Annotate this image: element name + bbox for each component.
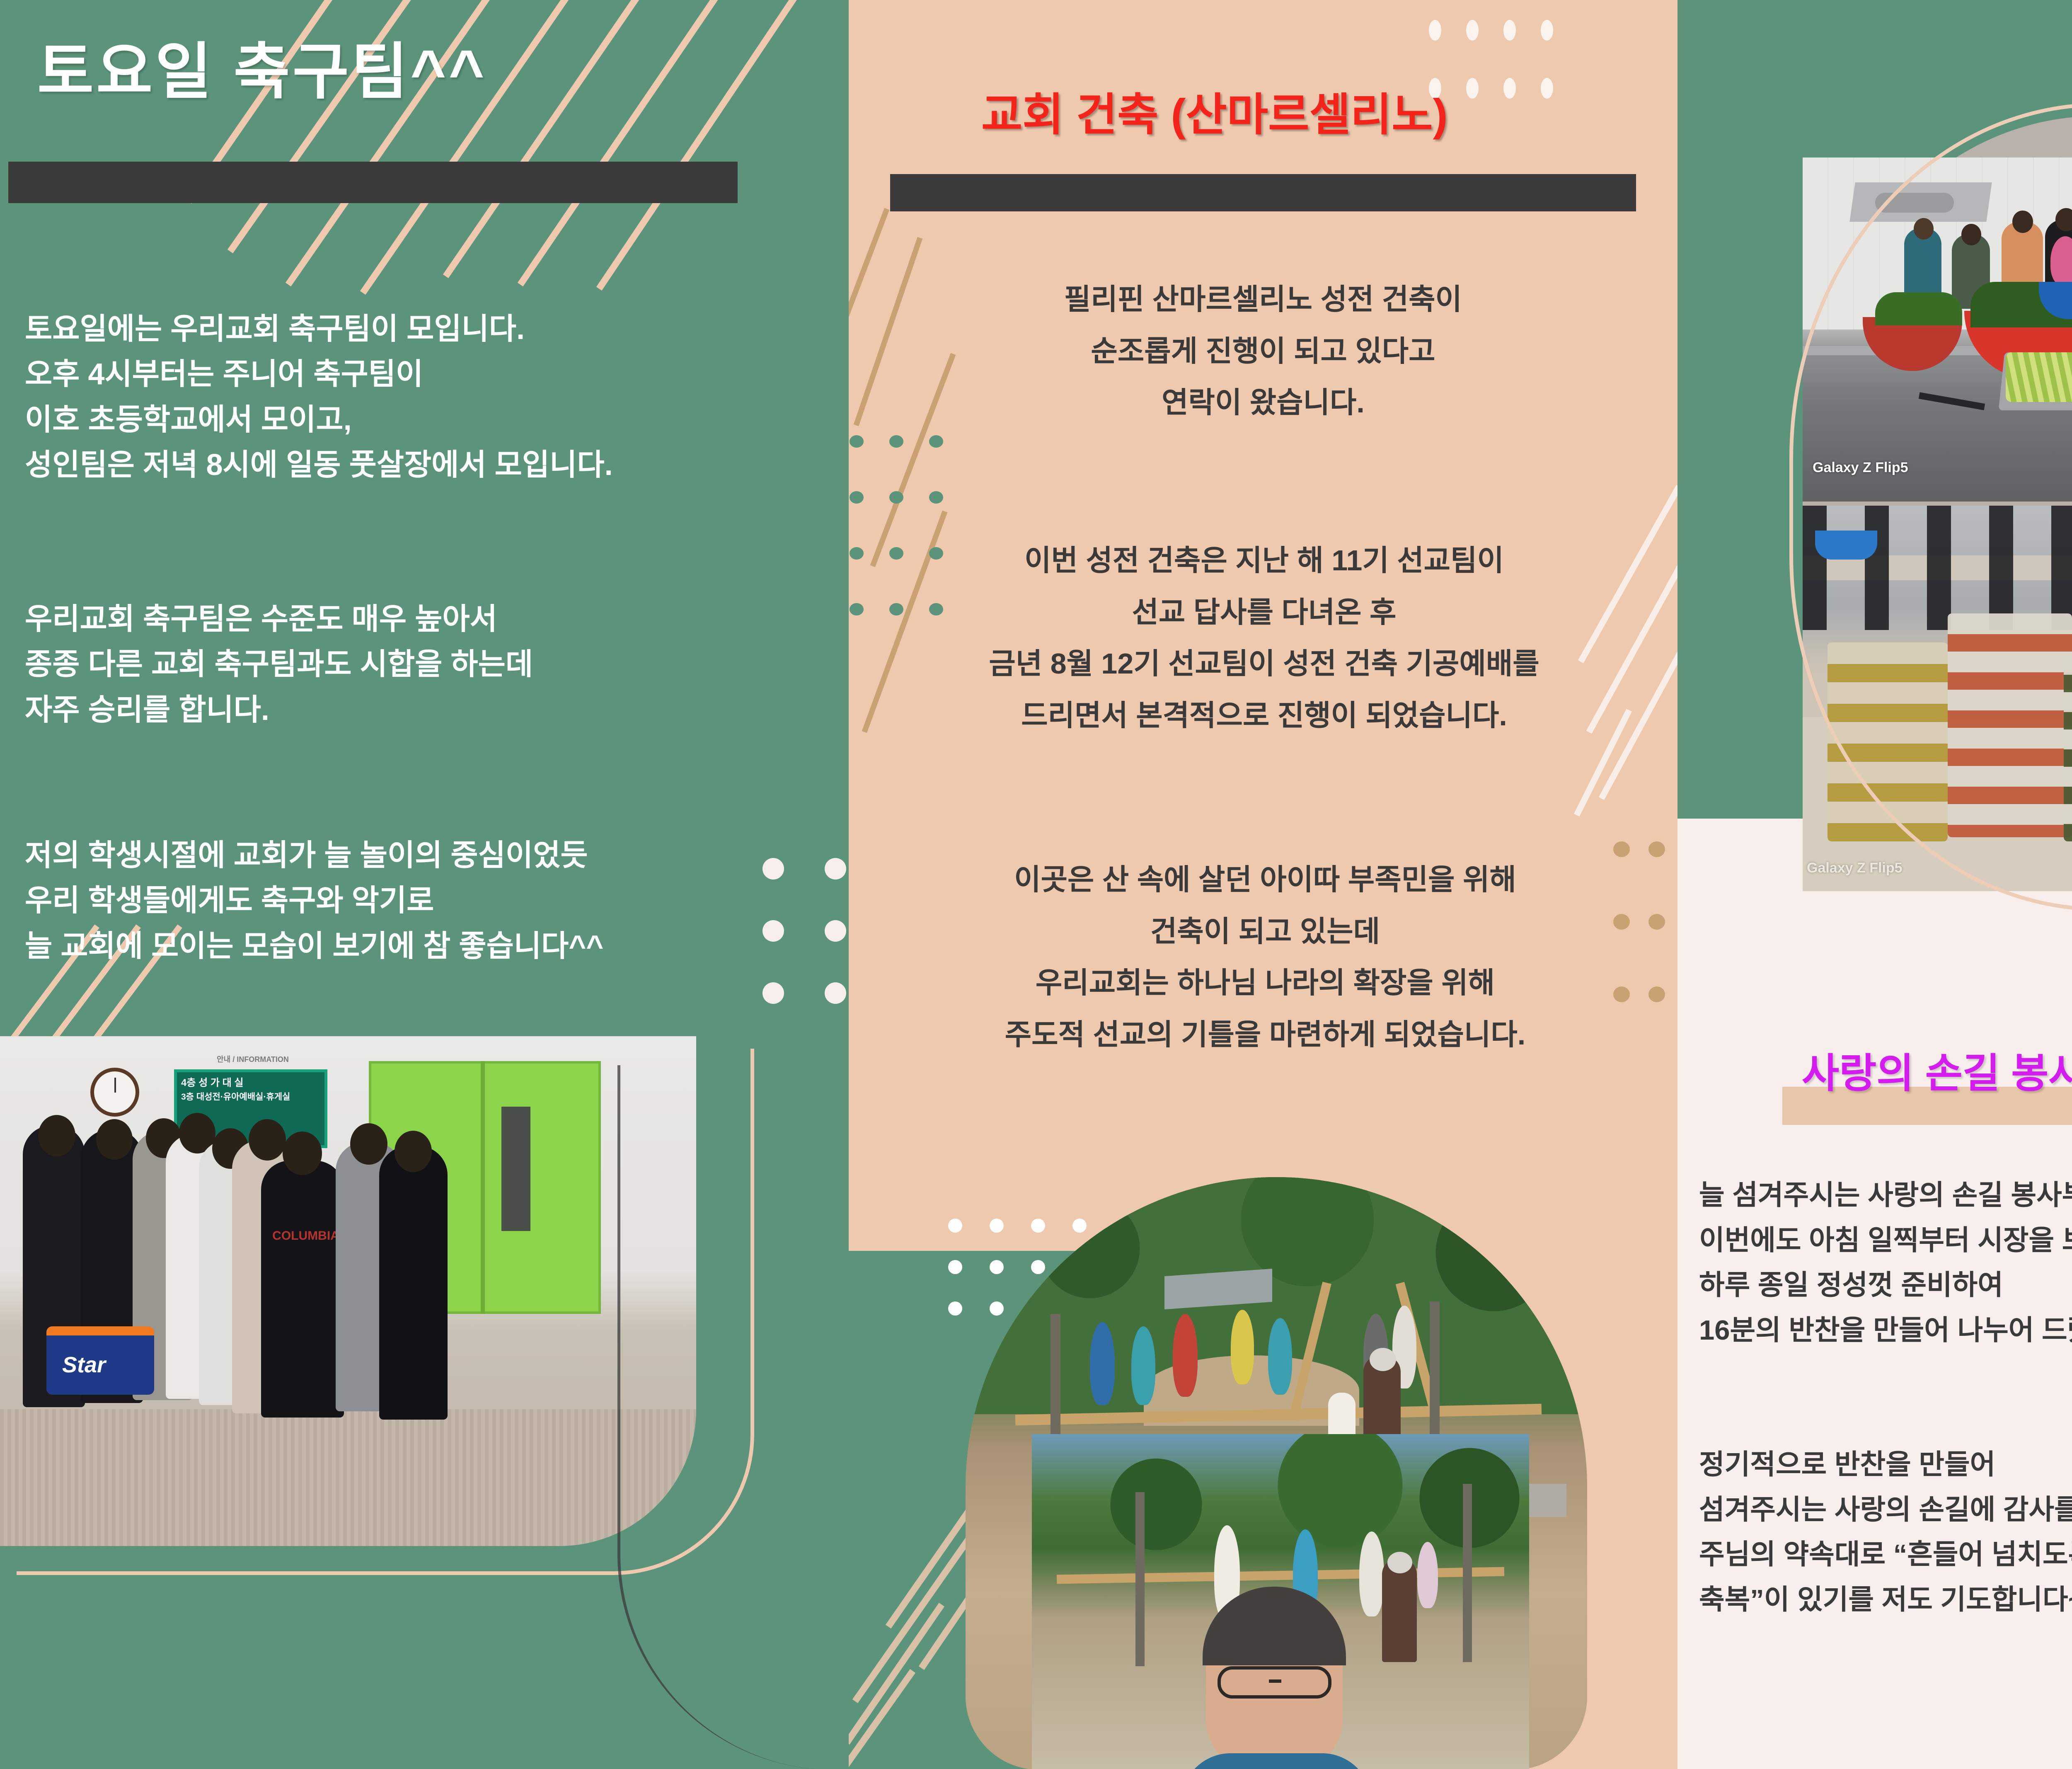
decorative-dot bbox=[948, 1219, 962, 1233]
photo-watermark: Galaxy Z Flip5 bbox=[1813, 460, 1908, 476]
person-head bbox=[38, 1115, 75, 1156]
left-paragraph-2: 우리교회 축구팀은 수준도 매우 높아서 종종 다른 교회 축구팀과도 시합을 … bbox=[25, 597, 829, 733]
person-head bbox=[249, 1119, 286, 1161]
worker-figure bbox=[1231, 1310, 1254, 1384]
sign-header-text: 안내 / INFORMATION bbox=[182, 1054, 323, 1064]
photo-scene: Galaxy Z Flip5 bbox=[1803, 158, 2072, 502]
container-stack-kimchi bbox=[1948, 613, 2072, 837]
decorative-dot bbox=[825, 982, 846, 1004]
door-window bbox=[501, 1107, 530, 1231]
left-column-title: 토요일 축구팀^^ bbox=[37, 22, 487, 111]
elder-figure bbox=[1382, 1558, 1417, 1662]
volunteer-head bbox=[1914, 218, 1934, 240]
rebar-column bbox=[1051, 1314, 1060, 1438]
person-figure bbox=[379, 1146, 448, 1420]
left-paragraph-3: 저의 학생시절에 교회가 늘 놀이의 중심이었듯 우리 학생들에게도 축구와 악… bbox=[25, 833, 849, 969]
shirt-logo-text: COLUMBIA bbox=[269, 1229, 343, 1243]
elder-hair bbox=[1370, 1348, 1396, 1371]
worker-figure bbox=[1359, 1532, 1384, 1616]
sign-line-3f: 3층 대성전·유아예배실·휴게실 bbox=[181, 1090, 320, 1104]
decorative-dot bbox=[929, 435, 943, 448]
right-paragraph-2: 정기적으로 반찬을 만들어 섬겨주시는 사랑의 손길에 감사를 드리며 주님의 … bbox=[1699, 1442, 2072, 1622]
person-head bbox=[283, 1132, 322, 1175]
photo-soccer-team: 4층 성 가 대 실 3층 대성전·유아예배실·휴게실 안내 / INFORMA… bbox=[0, 1036, 696, 1546]
decorative-dot bbox=[889, 435, 903, 448]
decorative-dot bbox=[850, 435, 864, 448]
decorative-dot bbox=[1429, 20, 1441, 41]
middle-title-underline-bar bbox=[890, 174, 1636, 211]
middle-column-title: 교회 건축 (산마르셀리노) bbox=[981, 79, 1448, 143]
right-column-title: 사랑의 손길 봉사부~ bbox=[1802, 1040, 2072, 1099]
person-head bbox=[350, 1123, 387, 1165]
photo-construction-selfie bbox=[1032, 1434, 1529, 1769]
rebar-column bbox=[1135, 1492, 1145, 1666]
sign-line-4f: 4층 성 가 대 실 bbox=[181, 1076, 320, 1090]
decorative-dot bbox=[1503, 20, 1516, 41]
newsletter-poster: 토요일 축구팀^^ 토요일에는 우리교회 축구팀이 모입니다. 오후 4시부터는… bbox=[0, 0, 2072, 1769]
decorative-dot bbox=[1466, 78, 1479, 99]
container-stack-yellow bbox=[1828, 642, 1948, 841]
blue-basket bbox=[1815, 531, 1877, 560]
bag-brand-text: Star bbox=[62, 1352, 145, 1378]
decorative-dot bbox=[762, 982, 784, 1004]
rebar-column bbox=[1430, 1301, 1440, 1438]
volunteer-head bbox=[2012, 211, 2033, 233]
photo-side-dish-containers: Galaxy Z Flip5 bbox=[1803, 506, 2072, 891]
photo-scene: 4층 성 가 대 실 3층 대성전·유아예배실·휴게실 안내 / INFORMA… bbox=[0, 1036, 696, 1546]
middle-paragraph-1: 필리핀 산마르셀리노 성전 건축이 순조롭게 진행이 되고 있다고 연락이 왔습… bbox=[874, 274, 1653, 429]
elder-hair bbox=[1387, 1552, 1412, 1573]
decorative-dot bbox=[850, 491, 864, 504]
duct-pipe bbox=[1875, 193, 1954, 213]
child-figure bbox=[1417, 1542, 1438, 1608]
decorative-dot bbox=[929, 491, 943, 504]
floor-shape bbox=[0, 1409, 696, 1546]
photo-scene bbox=[1032, 1434, 1529, 1769]
left-paragraph-1: 토요일에는 우리교회 축구팀이 모입니다. 오후 4시부터는 주니어 축구팀이 … bbox=[25, 307, 829, 488]
dot-grid-middle-top bbox=[1429, 20, 1578, 136]
photo-scene: Galaxy Z Flip5 bbox=[1803, 506, 2072, 891]
decorative-dot bbox=[889, 491, 903, 504]
left-title-underline-bar bbox=[8, 162, 738, 203]
middle-paragraph-2: 이번 성전 건축은 지난 해 11기 선교팀이 선교 답사를 다녀온 후 금년 … bbox=[861, 535, 1667, 741]
door-divider bbox=[481, 1061, 485, 1314]
person-head bbox=[395, 1131, 432, 1172]
decorative-dot bbox=[1503, 78, 1516, 99]
worker-figure bbox=[1173, 1314, 1198, 1397]
selfie-glasses-bridge bbox=[1269, 1679, 1281, 1683]
rebar-column bbox=[1463, 1484, 1472, 1662]
worker-figure bbox=[1268, 1318, 1292, 1395]
worker-figure bbox=[1131, 1326, 1155, 1405]
chairs-row bbox=[1803, 506, 2072, 630]
person-figure bbox=[261, 1161, 344, 1418]
container-stack-greens bbox=[2064, 655, 2072, 841]
photo-kitchen-volunteers: Galaxy Z Flip5 bbox=[1803, 158, 2072, 502]
volunteer-head bbox=[1961, 224, 1981, 245]
photo-watermark: Galaxy Z Flip5 bbox=[1807, 860, 1903, 876]
decorative-dot bbox=[1541, 78, 1553, 99]
decorative-dot bbox=[1541, 20, 1553, 41]
worker-figure bbox=[1090, 1322, 1115, 1405]
foliage-shape bbox=[1032, 1434, 1529, 1562]
middle-paragraph-3: 이곳은 산 속에 살던 아이따 부족민을 위해 건축이 되고 있는데 우리교회는… bbox=[865, 854, 1665, 1060]
clock-hand bbox=[114, 1078, 116, 1093]
selfie-shoulder bbox=[1181, 1753, 1372, 1769]
decorative-dot bbox=[1466, 20, 1479, 41]
person-head bbox=[96, 1119, 133, 1160]
right-paragraph-1: 늘 섬겨주시는 사랑의 손길 봉사부에서 이번에도 아침 일찍부터 시장을 보고… bbox=[1699, 1173, 2072, 1353]
green-onions bbox=[2006, 352, 2072, 402]
greens-pile bbox=[1875, 292, 1962, 325]
